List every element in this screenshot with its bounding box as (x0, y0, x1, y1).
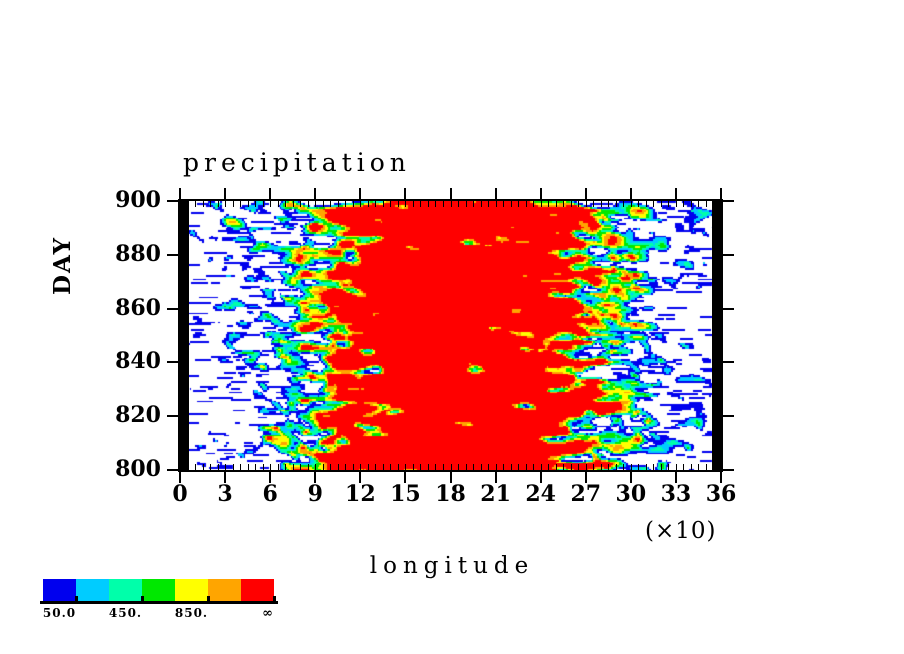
x-axis-minor-tick-top (466, 201, 467, 207)
y-axis-minor-tick-right (715, 341, 721, 342)
x-axis-major-tick-top (179, 188, 181, 199)
x-axis-minor-tick-top (721, 201, 722, 207)
x-axis-minor-tick-top (586, 201, 587, 207)
y-axis-tick-label: 820 (81, 402, 161, 428)
x-axis-minor-tick-bottom (458, 464, 459, 470)
x-axis-minor-tick-bottom (586, 464, 587, 470)
x-axis-minor-tick-top (270, 201, 271, 207)
x-axis-minor-tick-bottom (706, 464, 707, 470)
y-axis-minor-tick-left (180, 244, 186, 245)
x-axis-minor-tick-top (300, 201, 301, 207)
x-axis-minor-tick-bottom (353, 464, 354, 470)
x-axis-minor-tick-bottom (255, 464, 256, 470)
y-axis-major-tick (167, 308, 178, 310)
x-axis-minor-tick-bottom (676, 464, 677, 470)
x-axis-minor-tick-top (218, 201, 219, 207)
x-axis-minor-tick-top (698, 201, 699, 207)
x-axis-major-tick-top (675, 188, 677, 199)
x-axis-minor-tick-bottom (593, 464, 594, 470)
y-axis-minor-tick-left (180, 255, 186, 256)
y-axis-tick-label: 900 (81, 187, 161, 213)
y-axis-minor-tick-left (180, 362, 186, 363)
x-axis-minor-tick-top (623, 201, 624, 207)
x-axis-minor-tick-top (571, 201, 572, 207)
x-axis-minor-tick-bottom (195, 464, 196, 470)
x-axis-minor-tick-bottom (383, 464, 384, 470)
x-axis-minor-tick-bottom (631, 464, 632, 470)
x-axis-minor-tick-top (345, 201, 346, 207)
x-axis-minor-tick-bottom (526, 464, 527, 470)
x-axis-minor-tick-bottom (548, 464, 549, 470)
y-axis-minor-tick-left (180, 319, 186, 320)
x-axis-multiplier: (×10) (645, 518, 716, 544)
x-axis-minor-tick-bottom (225, 464, 226, 470)
x-axis-minor-tick-top (285, 201, 286, 207)
x-axis-minor-tick-bottom (556, 464, 557, 470)
x-axis-minor-tick-top (353, 201, 354, 207)
x-axis-minor-tick-bottom (481, 464, 482, 470)
y-axis-minor-tick-right (715, 405, 721, 406)
x-axis-minor-tick-top (435, 201, 436, 207)
y-axis-minor-tick-left (180, 405, 186, 406)
x-axis-minor-tick-top (563, 201, 564, 207)
x-axis-minor-tick-bottom (360, 464, 361, 470)
y-axis-minor-tick-left (180, 448, 186, 449)
x-axis-minor-tick-bottom (233, 464, 234, 470)
y-axis-major-tick-right (723, 415, 734, 417)
x-axis-minor-tick-top (443, 201, 444, 207)
x-axis-minor-tick-bottom (218, 464, 219, 470)
x-axis-minor-tick-top (293, 201, 294, 207)
colorbar-level-label: 50.0 (30, 606, 90, 620)
x-axis-minor-tick-top (195, 201, 196, 207)
y-axis-minor-tick-right (715, 287, 721, 288)
x-axis-minor-tick-bottom (270, 464, 271, 470)
y-axis-minor-tick-left (180, 416, 186, 417)
x-axis-minor-tick-top (413, 201, 414, 207)
x-axis-minor-tick-top (420, 201, 421, 207)
y-axis-minor-tick-right (715, 255, 721, 256)
x-axis-major-tick-top (224, 188, 226, 199)
y-axis-minor-tick-right (715, 427, 721, 428)
x-axis-minor-tick-bottom (608, 464, 609, 470)
x-axis-minor-tick-top (593, 201, 594, 207)
x-axis-minor-tick-bottom (315, 464, 316, 470)
colorbar-band-4-green (142, 579, 175, 601)
y-axis-major-tick (167, 415, 178, 417)
y-axis-minor-tick-left (180, 470, 186, 471)
x-axis-minor-tick-bottom (713, 464, 714, 470)
x-axis-minor-tick-top (533, 201, 534, 207)
x-axis-minor-tick-top (548, 201, 549, 207)
x-axis-minor-tick-top (203, 201, 204, 207)
y-axis-minor-tick-right (715, 395, 721, 396)
x-axis-minor-tick-top (488, 201, 489, 207)
y-axis-minor-tick-right (715, 319, 721, 320)
y-axis-minor-tick-left (180, 266, 186, 267)
x-axis-minor-tick-top (428, 201, 429, 207)
y-axis-minor-tick-left (180, 438, 186, 439)
y-axis-minor-tick-left (180, 309, 186, 310)
x-axis-major-tick-top (630, 188, 632, 199)
y-axis-minor-tick-right (715, 212, 721, 213)
x-axis-minor-tick-top (526, 201, 527, 207)
x-axis-minor-tick-top (713, 201, 714, 207)
x-axis-major-tick-top (585, 188, 587, 199)
y-axis-minor-tick-left (180, 341, 186, 342)
x-axis-minor-tick-top (330, 201, 331, 207)
x-axis-minor-tick-bottom (398, 464, 399, 470)
y-axis-minor-tick-left (180, 223, 186, 224)
x-axis-minor-tick-bottom (683, 464, 684, 470)
x-axis-minor-tick-top (315, 201, 316, 207)
colorbar-band-5-yellow (175, 579, 208, 601)
y-axis-major-tick (167, 361, 178, 363)
x-axis-minor-tick-top (496, 201, 497, 207)
colorbar-tick (75, 596, 78, 604)
x-axis-minor-tick-bottom (405, 464, 406, 470)
y-axis-minor-tick-left (180, 427, 186, 428)
x-axis-minor-tick-top (608, 201, 609, 207)
y-axis-minor-tick-right (715, 309, 721, 310)
x-axis-minor-tick-bottom (721, 464, 722, 470)
precipitation-hovmoller-canvas (180, 201, 721, 470)
x-axis-minor-tick-top (323, 201, 324, 207)
x-axis-minor-tick-bottom (646, 464, 647, 470)
x-axis-minor-tick-bottom (368, 464, 369, 470)
x-axis-minor-tick-bottom (698, 464, 699, 470)
x-axis-minor-tick-top (556, 201, 557, 207)
x-axis-minor-tick-bottom (263, 464, 264, 470)
x-axis-major-tick-top (269, 188, 271, 199)
x-axis-minor-tick-top (691, 201, 692, 207)
colorbar-tick (141, 596, 144, 604)
x-axis-minor-tick-top (683, 201, 684, 207)
y-axis-minor-tick-left (180, 233, 186, 234)
x-axis-minor-tick-top (503, 201, 504, 207)
x-axis-title: longitude (0, 553, 904, 579)
colorbar-level-label: ∞ (238, 606, 298, 621)
x-axis-minor-tick-bottom (285, 464, 286, 470)
x-axis-minor-tick-bottom (330, 464, 331, 470)
y-axis-minor-tick-right (715, 448, 721, 449)
y-axis-minor-tick-right (715, 438, 721, 439)
x-axis-minor-tick-top (676, 201, 677, 207)
x-axis-minor-tick-top (578, 201, 579, 207)
y-axis-minor-tick-left (180, 330, 186, 331)
x-axis-minor-tick-top (541, 201, 542, 207)
x-axis-minor-tick-bottom (323, 464, 324, 470)
x-axis-major-tick-top (720, 188, 722, 199)
x-axis-minor-tick-bottom (390, 464, 391, 470)
x-axis-minor-tick-top (473, 201, 474, 207)
x-axis-minor-tick-top (390, 201, 391, 207)
x-axis-minor-tick-top (458, 201, 459, 207)
colorbar-band-2-cyan (76, 579, 109, 601)
y-axis-tick-label: 880 (81, 241, 161, 267)
x-axis-minor-tick-top (481, 201, 482, 207)
x-axis-minor-tick-bottom (451, 464, 452, 470)
x-axis-minor-tick-bottom (203, 464, 204, 470)
x-axis-minor-tick-bottom (518, 464, 519, 470)
x-axis-minor-tick-bottom (691, 464, 692, 470)
masked-column-left (180, 201, 189, 470)
x-axis-minor-tick-bottom (466, 464, 467, 470)
x-axis-minor-tick-top (225, 201, 226, 207)
x-axis-minor-tick-bottom (496, 464, 497, 470)
x-axis-minor-tick-bottom (278, 464, 279, 470)
colorbar-tick (273, 596, 276, 604)
y-axis-major-tick (167, 469, 178, 471)
y-axis-minor-tick-right (715, 362, 721, 363)
y-axis-minor-tick-right (715, 276, 721, 277)
y-axis-minor-tick-right (715, 201, 721, 202)
x-axis-minor-tick-bottom (638, 464, 639, 470)
x-axis-minor-tick-bottom (668, 464, 669, 470)
x-axis-minor-tick-top (661, 201, 662, 207)
x-axis-major-tick-top (314, 188, 316, 199)
y-axis-minor-tick-left (180, 276, 186, 277)
x-axis-minor-tick-bottom (661, 464, 662, 470)
y-axis-major-tick (167, 200, 178, 202)
colorbar-band-1-blue (43, 579, 76, 601)
x-axis-minor-tick-top (451, 201, 452, 207)
x-axis-minor-tick-bottom (601, 464, 602, 470)
x-axis-tick-label: 36 (691, 481, 751, 507)
y-axis-minor-tick-right (715, 373, 721, 374)
x-axis-minor-tick-bottom (308, 464, 309, 470)
x-axis-minor-tick-top (308, 201, 309, 207)
x-axis-minor-tick-top (638, 201, 639, 207)
y-axis-major-tick-right (723, 361, 734, 363)
x-axis-minor-tick-bottom (511, 464, 512, 470)
y-axis-tick-label: 840 (81, 348, 161, 374)
y-axis-minor-tick-right (715, 384, 721, 385)
x-axis-minor-tick-bottom (563, 464, 564, 470)
y-axis-minor-tick-left (180, 373, 186, 374)
x-axis-minor-tick-bottom (653, 464, 654, 470)
y-axis-title: DAY (49, 236, 76, 295)
x-axis-minor-tick-top (631, 201, 632, 207)
x-axis-minor-tick-top (248, 201, 249, 207)
y-axis-minor-tick-right (715, 266, 721, 267)
x-axis-minor-tick-bottom (571, 464, 572, 470)
masked-column-right (712, 201, 721, 470)
y-axis-minor-tick-left (180, 201, 186, 202)
x-axis-minor-tick-top (263, 201, 264, 207)
x-axis-minor-tick-bottom (473, 464, 474, 470)
y-axis-minor-tick-right (715, 298, 721, 299)
x-axis-minor-tick-top (188, 201, 189, 207)
x-axis-minor-tick-bottom (428, 464, 429, 470)
colorbar-tick (207, 596, 210, 604)
y-axis-major-tick-right (723, 308, 734, 310)
x-axis-minor-tick-top (368, 201, 369, 207)
y-axis-minor-tick-left (180, 212, 186, 213)
x-axis-minor-tick-bottom (533, 464, 534, 470)
x-axis-minor-tick-bottom (503, 464, 504, 470)
y-axis-minor-tick-right (715, 352, 721, 353)
y-axis-minor-tick-left (180, 287, 186, 288)
y-axis-minor-tick-right (715, 459, 721, 460)
x-axis-minor-tick-bottom (248, 464, 249, 470)
x-axis-minor-tick-top (233, 201, 234, 207)
x-axis-minor-tick-bottom (375, 464, 376, 470)
x-axis-major-tick-top (450, 188, 452, 199)
plot-area (178, 199, 723, 472)
y-axis-minor-tick-right (715, 330, 721, 331)
x-axis-minor-tick-bottom (300, 464, 301, 470)
y-axis-minor-tick-right (715, 244, 721, 245)
y-axis-minor-tick-left (180, 384, 186, 385)
y-axis-major-tick (167, 254, 178, 256)
y-axis-minor-tick-right (715, 233, 721, 234)
colorbar-level-label: 850. (162, 606, 222, 620)
y-axis-minor-tick-left (180, 395, 186, 396)
x-axis-minor-tick-top (706, 201, 707, 207)
x-axis-minor-tick-top (375, 201, 376, 207)
x-axis-major-tick-top (495, 188, 497, 199)
x-axis-minor-tick-top (653, 201, 654, 207)
x-axis-minor-tick-top (210, 201, 211, 207)
x-axis-minor-tick-top (668, 201, 669, 207)
y-axis-major-tick-right (723, 254, 734, 256)
colorbar-band-7-red (241, 579, 274, 601)
x-axis-minor-tick-top (360, 201, 361, 207)
x-axis-minor-tick-top (278, 201, 279, 207)
colorbar-level-label: 450. (96, 606, 156, 620)
y-axis-minor-tick-right (715, 470, 721, 471)
x-axis-minor-tick-bottom (338, 464, 339, 470)
x-axis-minor-tick-bottom (616, 464, 617, 470)
x-axis-minor-tick-top (616, 201, 617, 207)
x-axis-minor-tick-top (338, 201, 339, 207)
y-axis-minor-tick-left (180, 298, 186, 299)
y-axis-minor-tick-right (715, 416, 721, 417)
x-axis-minor-tick-bottom (541, 464, 542, 470)
x-axis-major-tick-top (404, 188, 406, 199)
colorbar-band-3-spring-green (109, 579, 142, 601)
y-axis-tick-label: 860 (81, 295, 161, 321)
x-axis-minor-tick-bottom (488, 464, 489, 470)
y-axis-tick-label: 800 (81, 456, 161, 482)
x-axis-minor-tick-bottom (578, 464, 579, 470)
colorbar-band-6-orange (208, 579, 241, 601)
x-axis-minor-tick-top (511, 201, 512, 207)
page-title: precipitation (183, 148, 411, 177)
x-axis-minor-tick-bottom (345, 464, 346, 470)
x-axis-minor-tick-top (398, 201, 399, 207)
x-axis-minor-tick-top (601, 201, 602, 207)
x-axis-minor-tick-top (255, 201, 256, 207)
x-axis-minor-tick-bottom (240, 464, 241, 470)
x-axis-minor-tick-top (405, 201, 406, 207)
x-axis-minor-tick-bottom (293, 464, 294, 470)
x-axis-minor-tick-bottom (443, 464, 444, 470)
x-axis-minor-tick-bottom (420, 464, 421, 470)
x-axis-major-tick-top (359, 188, 361, 199)
x-axis-minor-tick-top (240, 201, 241, 207)
x-axis-minor-tick-bottom (623, 464, 624, 470)
x-axis-minor-tick-top (518, 201, 519, 207)
x-axis-minor-tick-top (646, 201, 647, 207)
y-axis-minor-tick-left (180, 352, 186, 353)
y-axis-major-tick-right (723, 469, 734, 471)
y-axis-major-tick-right (723, 200, 734, 202)
x-axis-minor-tick-top (383, 201, 384, 207)
y-axis-minor-tick-right (715, 223, 721, 224)
x-axis-minor-tick-bottom (413, 464, 414, 470)
x-axis-minor-tick-bottom (210, 464, 211, 470)
x-axis-minor-tick-bottom (188, 464, 189, 470)
y-axis-minor-tick-left (180, 459, 186, 460)
x-axis-major-tick-top (540, 188, 542, 199)
x-axis-minor-tick-bottom (435, 464, 436, 470)
